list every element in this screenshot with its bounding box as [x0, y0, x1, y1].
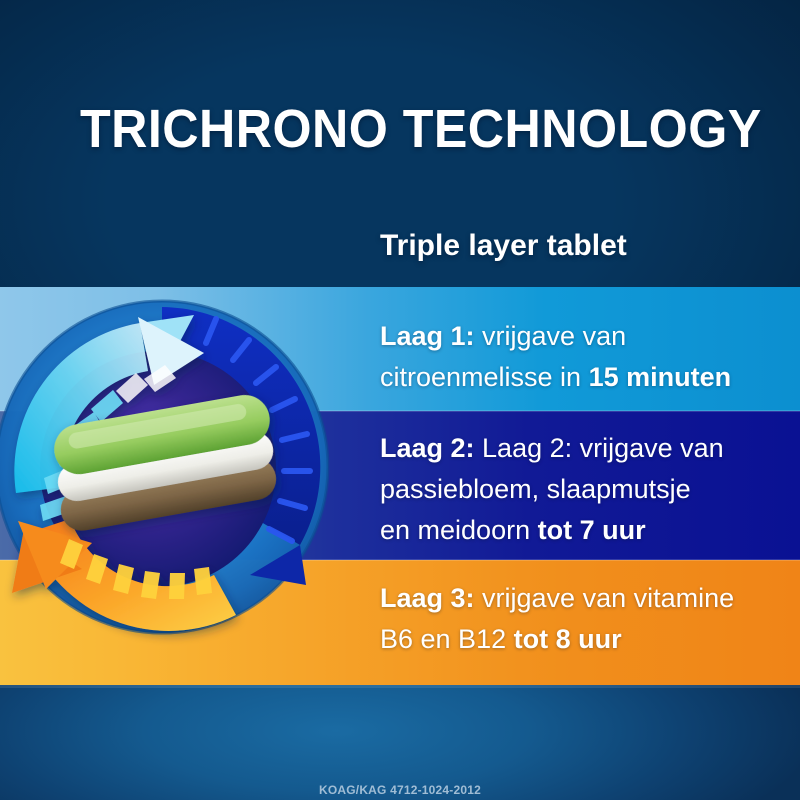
- layer-1-label: Laag 1:: [380, 321, 475, 351]
- layer-3-line1: vrijgave van vitamine: [475, 583, 735, 613]
- layer-1-line1: vrijgave van: [475, 321, 627, 351]
- layer-1-line2-bold: 15 minuten: [589, 362, 732, 392]
- layer-2-label: Laag 2:: [380, 433, 475, 463]
- page-title: TRICHRONO TECHNOLOGY: [80, 100, 694, 158]
- layer-3-label: Laag 3:: [380, 583, 475, 613]
- footer-divider: [0, 685, 800, 688]
- poster-canvas: TRICHRONO TECHNOLOGY Triple layer tablet: [0, 0, 800, 800]
- layer-2-line3-bold: tot 7 uur: [538, 515, 646, 545]
- page-subtitle: Triple layer tablet: [380, 228, 627, 264]
- layer-3-line2-plain: B6 en B12: [380, 624, 514, 654]
- layer-2-text: Laag 2: Laag 2: vrijgave van passiebloem…: [380, 428, 800, 551]
- layer-2-line2: passiebloem, slaapmutsje: [380, 474, 691, 504]
- layer-1-line2-plain: citroenmelisse in: [380, 362, 589, 392]
- layer-2-line1: Laag 2: vrijgave van: [475, 433, 724, 463]
- layer-1-text: Laag 1: vrijgave van citroenmelisse in 1…: [380, 316, 800, 398]
- layer-3-line2-bold: tot 8 uur: [514, 624, 622, 654]
- layer-3-text: Laag 3: vrijgave van vitamine B6 en B12 …: [380, 578, 800, 660]
- layer-2-line3-plain: en meidoorn: [380, 515, 538, 545]
- regulatory-code: KOAG/KAG 4712-1024-2012: [0, 783, 800, 797]
- trichrono-cycle-graphic: [0, 293, 336, 641]
